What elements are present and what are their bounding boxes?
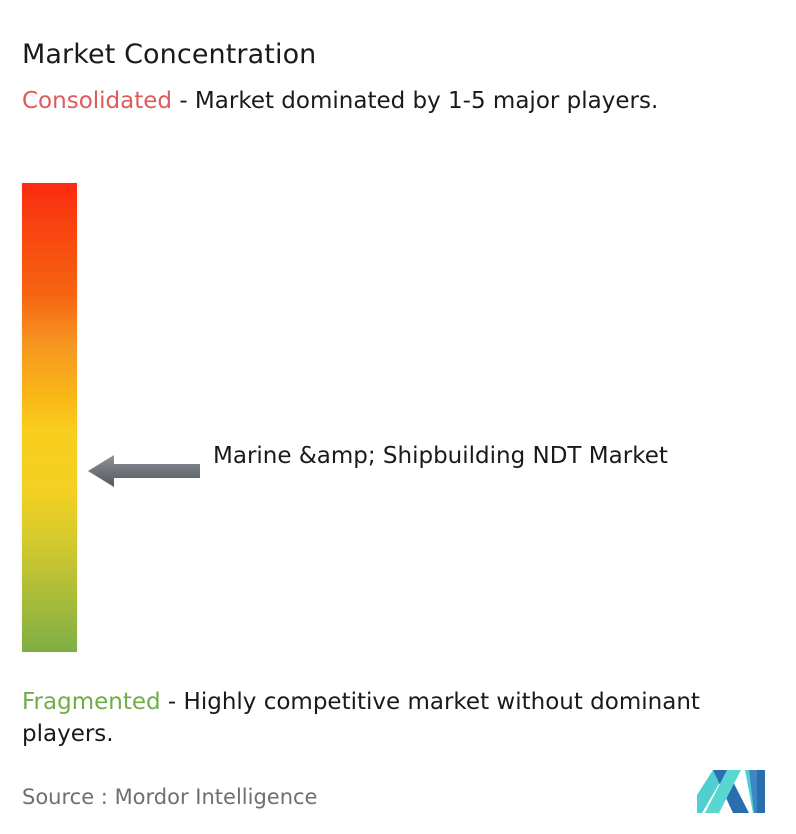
legend-consolidated-term: Consolidated xyxy=(22,88,172,114)
mordor-intelligence-logo xyxy=(697,770,765,813)
concentration-gradient-bar xyxy=(22,183,77,652)
source-label: Source : xyxy=(22,785,115,809)
legend-consolidated-description: - Market dominated by 1-5 major players. xyxy=(172,88,658,114)
legend-consolidated: Consolidated - Market dominated by 1-5 m… xyxy=(22,85,778,117)
legend-fragmented: Fragmented - Highly competitive market w… xyxy=(22,686,784,750)
legend-fragmented-term: Fragmented xyxy=(22,689,161,715)
source-attribution: Source : Mordor Intelligence xyxy=(22,783,317,811)
marker-label: Marine &amp; Shipbuilding NDT Market xyxy=(213,439,683,474)
page-title: Market Concentration xyxy=(22,38,316,72)
arrow-left-icon xyxy=(88,452,200,490)
source-value: Mordor Intelligence xyxy=(115,785,318,809)
